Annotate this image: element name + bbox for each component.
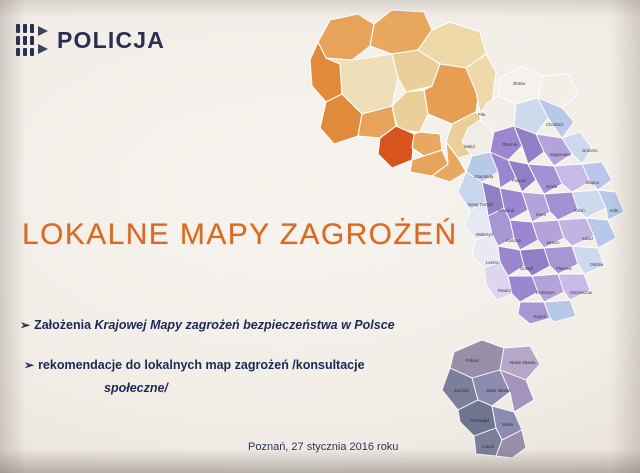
bullet-arrow-icon: ➢ (20, 318, 30, 332)
svg-text:Koło: Koło (610, 208, 619, 213)
svg-text:Kalisz: Kalisz (582, 236, 593, 241)
svg-text:Grodzisk: Grodzisk (498, 208, 515, 213)
svg-text:Północ: Północ (466, 358, 480, 363)
svg-text:Stare Miasto: Stare Miasto (486, 388, 511, 393)
svg-text:Wągrowiec: Wągrowiec (550, 152, 571, 157)
bullet-item-1: ➢Założenia Krajowej Mapy zagrożeń bezpie… (20, 316, 395, 334)
svg-text:Luboń: Luboń (482, 444, 495, 449)
svg-text:Kościan: Kościan (506, 238, 522, 243)
bullet-arrow-icon-2: ➢ (24, 358, 34, 372)
svg-text:Jarocin: Jarocin (546, 240, 560, 245)
bullet-1-italic-text: Krajowej Mapy zagrożeń bezpieczeństwa w … (95, 318, 395, 332)
svg-text:Środa: Środa (546, 184, 558, 189)
wielkopolska-powiat-map: Złotów Piła Chodzież Wałcz Oborniki Wągr… (450, 60, 635, 330)
svg-text:Nowy Tomyśl: Nowy Tomyśl (468, 202, 493, 207)
police-logo: POLICJA (14, 22, 165, 58)
svg-text:Poznań: Poznań (512, 178, 527, 183)
slide-footer: Poznań, 27 stycznia 2016 roku (248, 441, 398, 453)
svg-text:Ostrzeszów: Ostrzeszów (570, 290, 593, 295)
police-star-icon (14, 22, 48, 58)
svg-text:Rawicz: Rawicz (498, 288, 512, 293)
svg-text:Zachód: Zachód (454, 388, 469, 393)
svg-text:Szamotuły: Szamotuły (474, 174, 494, 179)
svg-text:Śrem: Śrem (536, 212, 547, 217)
svg-text:Gostyń: Gostyń (520, 266, 534, 271)
bullet-2-text-line2: społeczne/ (104, 381, 168, 395)
bullet-item-2: ➢rekomendacje do lokalnych map zagrożeń … (24, 356, 365, 374)
bullet-2-text: rekomendacje do lokalnych map zagrożeń /… (38, 358, 365, 372)
svg-text:Leszno: Leszno (486, 260, 500, 265)
svg-text:Kępno: Kępno (534, 314, 547, 319)
svg-text:Pleszew: Pleszew (556, 266, 573, 271)
svg-text:Konin: Konin (574, 208, 585, 213)
page-title: LOKALNE MAPY ZAGROŻEŃ (22, 218, 458, 252)
bullet-1-text: Założenia (34, 318, 94, 332)
svg-text:Wałcz: Wałcz (464, 144, 475, 149)
svg-text:Wilda: Wilda (502, 422, 514, 427)
svg-text:Grunwald: Grunwald (470, 418, 489, 423)
presentation-slide: POLICJA (0, 0, 640, 473)
svg-text:Złotów: Złotów (513, 81, 526, 86)
logo-text: POLICJA (57, 27, 165, 54)
svg-text:Wolsztyn: Wolsztyn (476, 232, 494, 237)
svg-text:Ostrów: Ostrów (590, 262, 604, 267)
projected-slide-photo: POLICJA (0, 0, 640, 473)
svg-text:Gniezno: Gniezno (582, 148, 598, 153)
svg-text:Piła: Piła (478, 112, 486, 117)
svg-text:Chodzież: Chodzież (546, 122, 563, 127)
svg-text:Oborniki: Oborniki (502, 142, 518, 147)
svg-text:Nowe Miasto: Nowe Miasto (510, 360, 536, 365)
svg-text:Słupca: Słupca (586, 180, 599, 185)
poznan-district-map: Północ Nowe Miasto Zachód Stare Miasto G… (430, 330, 570, 465)
svg-text:Krotoszyn: Krotoszyn (536, 290, 555, 295)
